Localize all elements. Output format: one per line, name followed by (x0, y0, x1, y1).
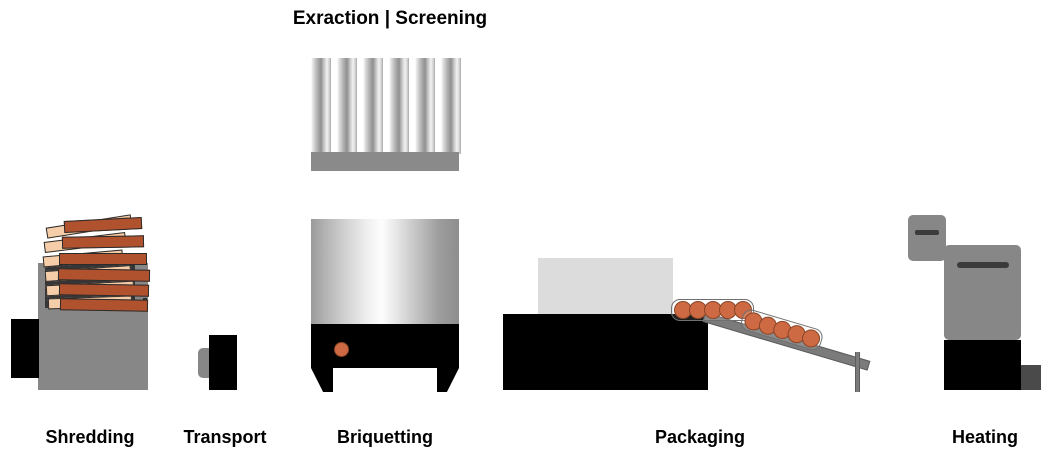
wood-plank (60, 298, 148, 312)
step-label-briquetting: Briquetting (310, 427, 460, 448)
wood-plank (62, 235, 144, 248)
step-label-packaging: Packaging (620, 427, 780, 448)
packaging-hood (538, 258, 673, 320)
screening-base-bar (311, 152, 459, 171)
wood-plank (64, 217, 143, 233)
briquette-press-cylinder (311, 219, 459, 324)
heating-vent (1021, 365, 1041, 390)
wood-plank (58, 268, 150, 282)
step-label-shredding: Shredding (20, 427, 160, 448)
step-label-heating: Heating (915, 427, 1055, 448)
shredder-hopper-box (11, 319, 39, 378)
heating-chamber (944, 245, 1021, 340)
briquette-output-port (334, 342, 349, 357)
briquette-press-leg-left (311, 368, 333, 392)
screening-roller-4 (389, 58, 409, 154)
packaging-ramp-leg (855, 352, 860, 392)
screening-roller-6 (441, 58, 461, 154)
heating-control-box (908, 215, 946, 261)
screening-roller-3 (363, 58, 383, 154)
step-label-transport: Transport (155, 427, 295, 448)
heating-base (944, 340, 1021, 390)
page-title: Exraction | Screening (0, 8, 780, 30)
heating-control-slot (915, 230, 939, 235)
process-diagram-canvas: Exraction | Screening (0, 0, 1059, 461)
transport-block (209, 335, 237, 390)
briquette-press-base (311, 324, 459, 368)
packaging-table (503, 314, 708, 390)
screening-roller-5 (415, 58, 435, 154)
wood-plank (59, 253, 147, 265)
heating-chamber-slot (957, 262, 1009, 268)
screening-roller-2 (337, 58, 357, 154)
wood-plank-stack (40, 215, 160, 315)
wood-plank (59, 283, 149, 297)
screening-roller-1 (311, 58, 331, 154)
briquette-press-leg-right (437, 368, 459, 392)
